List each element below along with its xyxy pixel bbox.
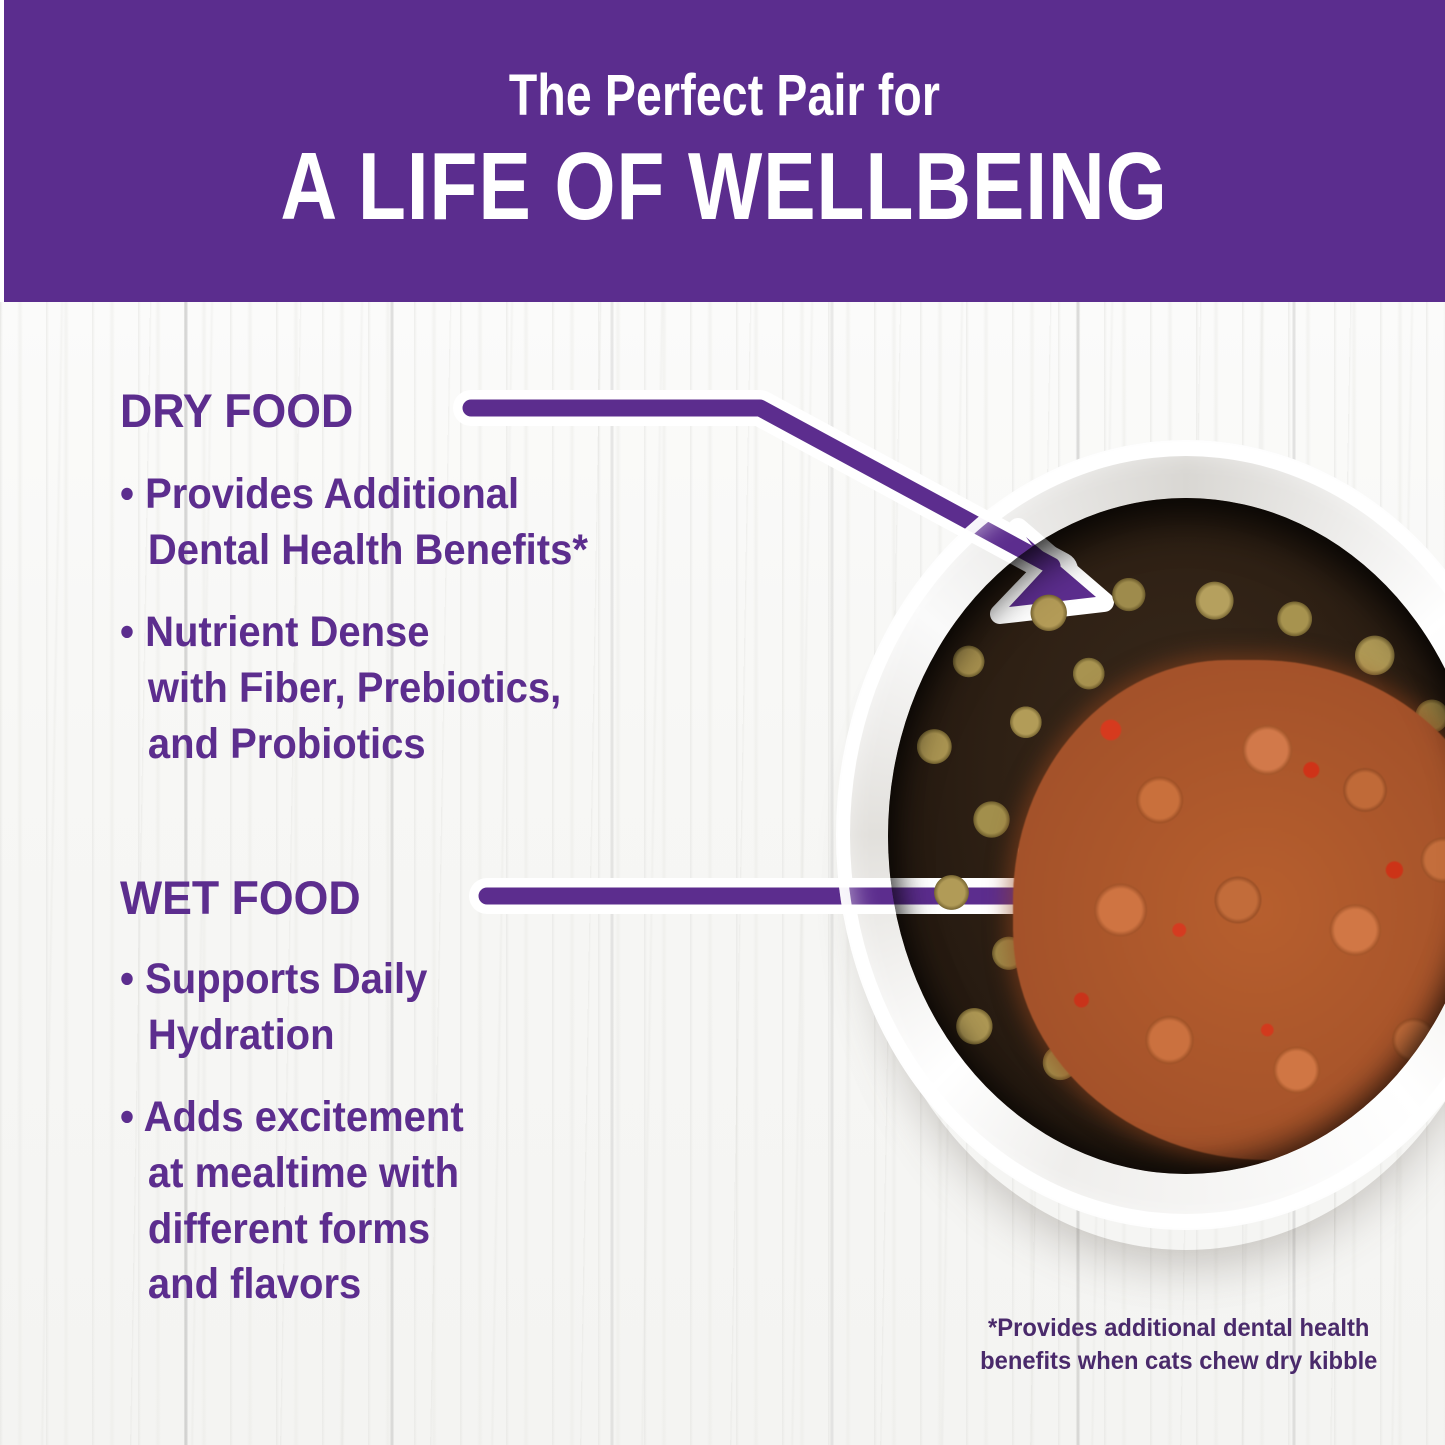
- cat-food-bowl-photo: [836, 440, 1445, 1252]
- dry-food-heading: DRY FOOD: [120, 383, 353, 438]
- list-item: • Nutrient Densewith Fiber, Prebiotics,a…: [120, 605, 725, 773]
- wet-food-heading: WET FOOD: [120, 870, 361, 925]
- dry-food-bullet-list: • Provides AdditionalDental Health Benef…: [120, 467, 725, 772]
- footnote-text: *Provides additional dental health benef…: [975, 1312, 1384, 1377]
- header-banner: The Perfect Pair for A LIFE OF WELLBEING: [4, 0, 1445, 302]
- banner-subtitle: The Perfect Pair for: [509, 67, 940, 125]
- bowl-outer: [836, 440, 1445, 1230]
- list-item: • Supports DailyHydration: [120, 952, 678, 1064]
- promo-infographic: The Perfect Pair for A LIFE OF WELLBEING: [0, 0, 1445, 1445]
- list-item: • Provides AdditionalDental Health Benef…: [120, 467, 725, 579]
- list-item: • Adds excitementat mealtime withdiffere…: [120, 1090, 678, 1314]
- wet-food-bullet-list: • Supports DailyHydration • Adds excitem…: [120, 952, 678, 1313]
- banner-title: A LIFE OF WELLBEING: [281, 139, 1168, 235]
- bowl-interior: [888, 498, 1445, 1174]
